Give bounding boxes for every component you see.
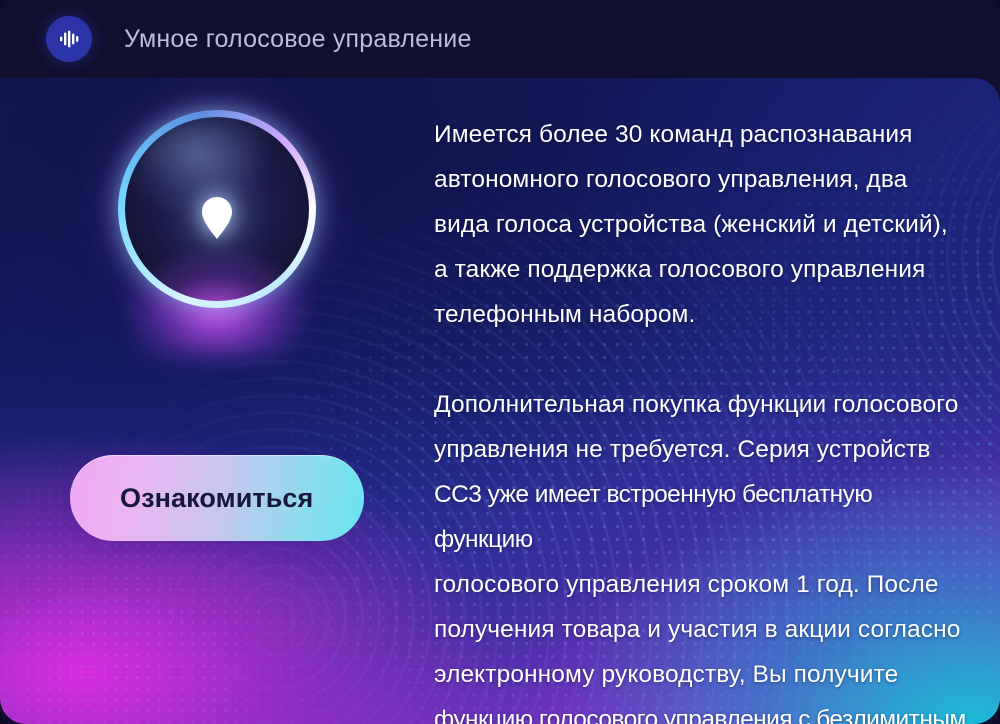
p2-line-6: электронному руководству, Вы получите [434, 652, 968, 697]
description-paragraph-2: Дополнительная покупка функции голосовог… [434, 382, 968, 724]
learn-more-button[interactable]: Ознакомиться [70, 455, 364, 541]
banner-header: Умное голосовое управление [0, 0, 1000, 78]
description-paragraph-1: Имеется более 30 команд распознавания ав… [434, 112, 968, 337]
feature-description: Имеется более 30 команд распознавания ав… [434, 112, 968, 724]
p2-line-3: CC3 уже имеет встроенную бесплатную функ… [434, 472, 968, 562]
voice-assistant-pin-icon [200, 196, 234, 240]
p2-line-1: Дополнительная покупка функции голосовог… [434, 382, 968, 427]
voice-assistant-orb [118, 110, 316, 308]
promo-banner: Умное голосовое управление Ознакомиться … [0, 0, 1000, 724]
voice-waveform-icon [46, 16, 92, 62]
p2-line-5: получения товара и участия в акции согла… [434, 607, 968, 652]
p2-line-7: функцию голосового управления с безлимит… [434, 697, 968, 724]
p2-line-4: голосового управления сроком 1 год. Посл… [434, 562, 968, 607]
p2-line-2: управления не требуется. Серия устройств [434, 427, 968, 472]
page-title: Умное голосовое управление [124, 25, 472, 54]
learn-more-button-label: Ознакомиться [70, 483, 313, 514]
